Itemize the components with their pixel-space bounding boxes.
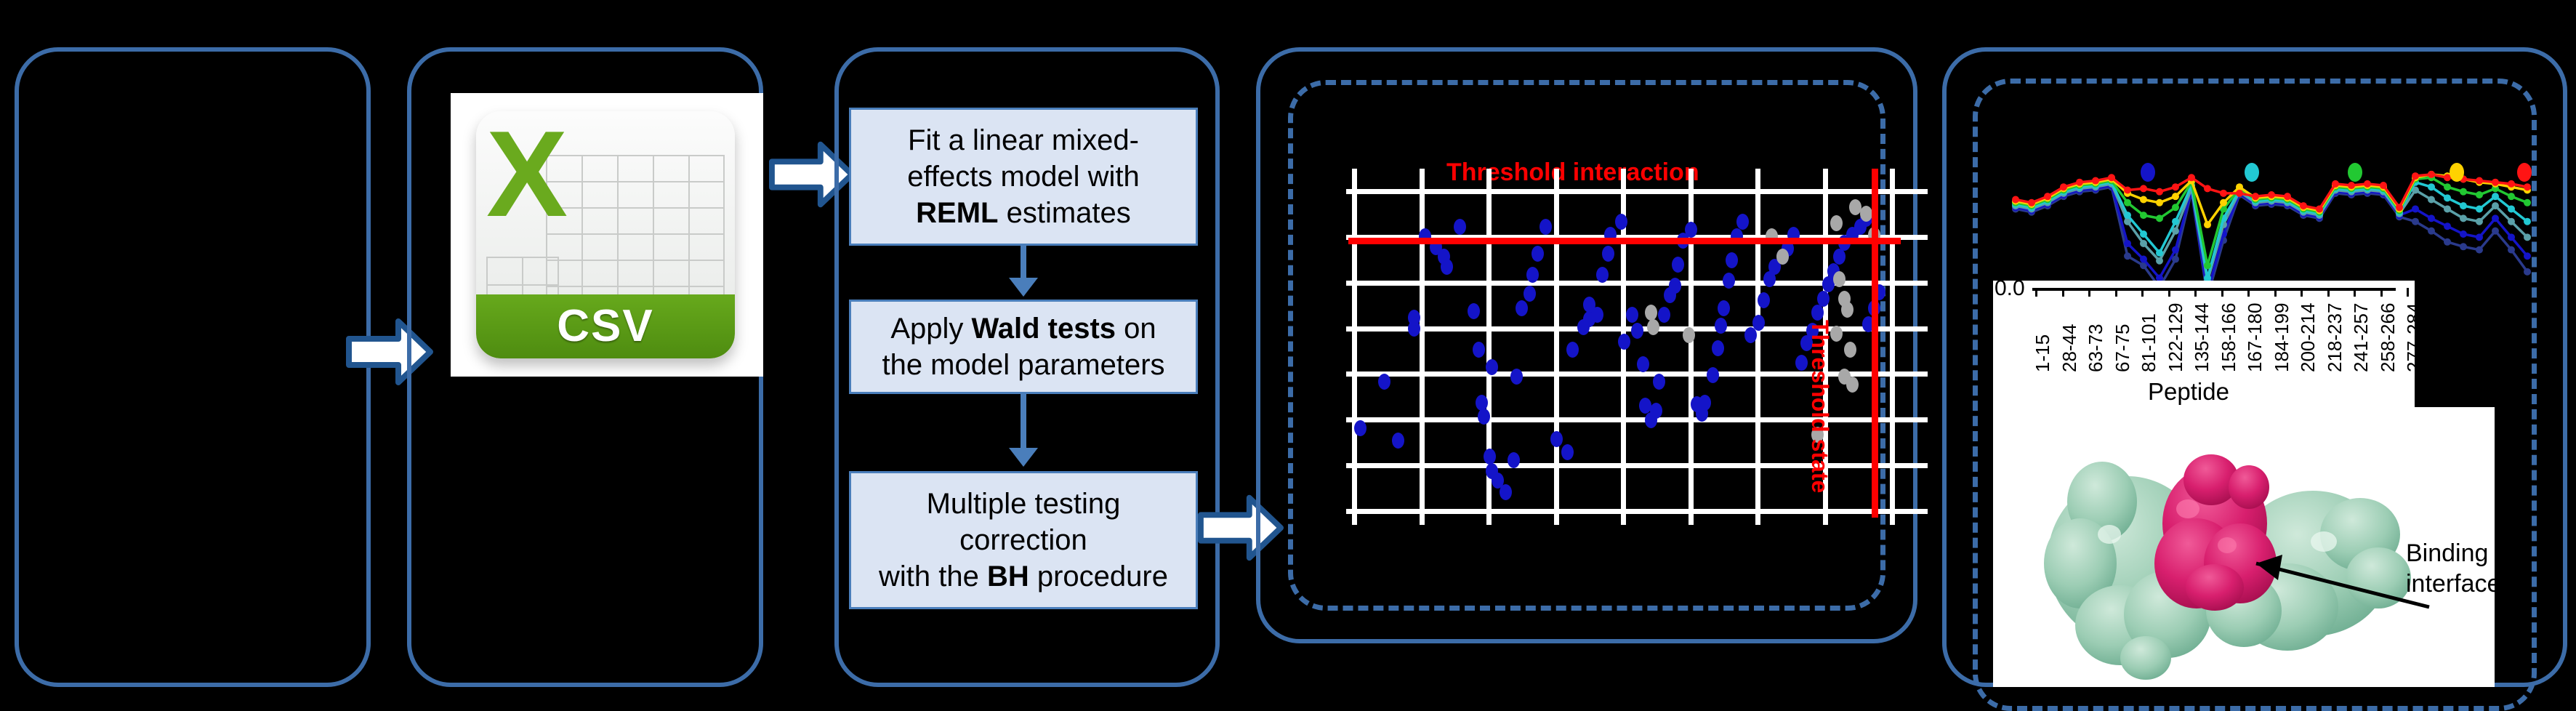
peptide-series-marker (2364, 180, 2371, 188)
scatter-point (1591, 307, 1603, 323)
scatter-point (1833, 249, 1846, 265)
excel-x-letter: X (483, 123, 571, 225)
peptide-series-marker (2236, 183, 2243, 190)
peptide-series-marker (2508, 246, 2515, 254)
legend-dot (2517, 163, 2532, 182)
peptide-series-marker (2460, 188, 2467, 196)
bh-line2: correction (959, 524, 1087, 556)
peptide-series-marker (2188, 174, 2195, 181)
peptide-series-marker (2524, 268, 2531, 276)
peptide-x-axis-tick (2380, 288, 2383, 297)
legend-dot (2141, 163, 2155, 182)
peptide-tick-label: 167-180 (2244, 303, 2266, 372)
scatter-point (1833, 271, 1846, 287)
scatter-point (1830, 215, 1843, 231)
bh-post3: procedure (1029, 561, 1168, 592)
peptide-series-marker (2124, 252, 2131, 260)
reml-line3-tail: estimates (999, 197, 1131, 229)
peptide-series-marker (2508, 193, 2515, 200)
peptide-series-marker (2412, 205, 2419, 212)
threshold-interaction-line (1348, 238, 1901, 244)
peptide-series-marker (2412, 172, 2419, 180)
scatter-point (1726, 252, 1738, 268)
peptide-series-marker (2476, 218, 2483, 225)
scatter-point (1524, 286, 1536, 302)
peptide-series-marker (2172, 204, 2179, 211)
peptide-tick-label: 218-237 (2324, 303, 2346, 372)
peptide-tick-label: 277-284 (2403, 303, 2426, 372)
csv-band-label: CSV (476, 294, 735, 358)
reml-line1: Fit a linear mixed- (908, 124, 1139, 156)
peptide-series-marker (2140, 240, 2147, 247)
peptide-tick-label: 81-101 (2138, 313, 2160, 372)
peptide-series-marker (2172, 246, 2179, 254)
peptide-series-marker (2044, 193, 2051, 200)
peptide-series-marker (2524, 183, 2531, 190)
scatter-point (1669, 278, 1681, 294)
peptide-series-marker (2220, 199, 2227, 206)
peptide-series-marker (2428, 228, 2435, 235)
peptide-series-marker (2492, 228, 2499, 235)
wald-post: on (1116, 313, 1156, 345)
peptide-x-axis-line (2032, 288, 2396, 291)
peptide-series-marker (2140, 256, 2147, 263)
scatter-point (1500, 484, 1512, 500)
threshold-state-line (1872, 169, 1878, 518)
peptide-series-marker (2476, 205, 2483, 212)
grid-line-vertical (1554, 169, 1559, 525)
peptide-tick-label: 184-199 (2271, 303, 2293, 372)
scatter-point (1516, 300, 1528, 316)
scatter-point (1408, 310, 1420, 326)
peptide-x-axis-tick (2301, 288, 2303, 297)
scatter-point (1510, 369, 1523, 385)
peptide-series-marker (2156, 257, 2163, 265)
peptide-series-marker (2492, 214, 2499, 222)
peptide-series-marker (2140, 212, 2147, 219)
scatter-point (1378, 374, 1390, 390)
peptide-series-marker (2492, 179, 2499, 186)
peptide-series-marker (2220, 190, 2227, 197)
peptide-x-axis-tick (2274, 288, 2277, 297)
peptide-tick-label: 258-266 (2377, 303, 2399, 372)
scatter-point (1683, 327, 1695, 343)
grid-line-horizontal (1346, 509, 1928, 514)
peptide-series-marker (2380, 182, 2387, 189)
peptide-series-marker (2444, 183, 2451, 190)
scatter-point (1441, 259, 1453, 275)
peptide-series-marker (2124, 240, 2131, 247)
scatter-point (1550, 431, 1563, 447)
grid-line-vertical (1755, 169, 1760, 525)
peptide-series-marker (2300, 202, 2307, 209)
peptide-x-axis-tick (2115, 288, 2117, 297)
scatter-point (1626, 307, 1638, 323)
wald-line2: the model parameters (882, 349, 1164, 381)
scatter-point (1539, 219, 1552, 235)
scatter-point (1647, 319, 1659, 335)
scatter-point (1712, 340, 1724, 356)
peptide-series-marker (2236, 190, 2243, 197)
connector-wald-bh (1021, 394, 1026, 449)
bh-emphasis: BH (987, 561, 1029, 592)
peptide-series-marker (2444, 194, 2451, 201)
binding-interface-label: Binding interface (2406, 538, 2500, 599)
scatter-point (1454, 219, 1466, 235)
scatter-point (1715, 318, 1727, 334)
scatter-point (1817, 291, 1830, 307)
reml-line2: effects model with (907, 161, 1139, 193)
scatter-point (1645, 305, 1657, 321)
peptide-tick-label: 1-15 (2032, 334, 2054, 372)
peptide-series-marker (2332, 180, 2339, 188)
peptide-series-marker (2172, 218, 2179, 225)
peptide-series-marker (2460, 243, 2467, 250)
peptide-series-marker (2172, 193, 2179, 200)
peptide-series-marker (2476, 191, 2483, 198)
bh-pre3: with the (879, 561, 987, 592)
scatter-point (1526, 267, 1539, 283)
peptide-series-marker (2060, 183, 2067, 190)
legend-dot (2450, 163, 2464, 182)
process-box-bh: Multiple testing correction with the BH … (849, 471, 1198, 609)
peptide-series-marker (2156, 199, 2163, 206)
peptide-series-marker (2204, 262, 2211, 269)
peptide-series-marker (2028, 199, 2035, 206)
scatter-point (1699, 395, 1711, 411)
bh-line1: Multiple testing (927, 488, 1121, 520)
peptide-series-marker (2524, 233, 2531, 241)
peptide-x-axis-tick (2327, 288, 2330, 297)
grid-line-horizontal (1346, 189, 1928, 194)
scatter-point (1508, 452, 1520, 468)
peptide-series-marker (2252, 193, 2259, 200)
threshold-interaction-label: Threshold interaction (1446, 158, 1699, 187)
peptide-x-axis-tick (2141, 288, 2144, 297)
peptide-tick-label: 67-75 (2112, 324, 2134, 373)
pipeline-figure: X CSV Fit a linear mixed- effects model … (0, 0, 2576, 687)
scatter-point (1860, 206, 1872, 222)
peptide-tick-label: 122-129 (2165, 303, 2187, 372)
scatter-point (1650, 403, 1662, 419)
peptide-tick-label: 63-73 (2085, 324, 2107, 373)
peptide-series-marker (2156, 214, 2163, 222)
peptide-series-marker (2348, 182, 2355, 189)
peptide-x-axis-tick (2062, 288, 2064, 297)
scatter-point (1637, 356, 1649, 372)
process-box-reml: Fit a linear mixed- effects model with R… (849, 108, 1198, 246)
peptide-series-marker (2076, 179, 2083, 186)
grid-line-horizontal (1346, 417, 1928, 422)
peptide-series-marker (2140, 196, 2147, 203)
peptide-series-marker (2476, 246, 2483, 254)
peptide-series-marker (2140, 230, 2147, 238)
peptide-series-marker (2460, 214, 2467, 222)
scatter-point (1653, 374, 1665, 390)
peptide-x-axis-tick (2407, 288, 2409, 297)
peptide-series-marker (2524, 199, 2531, 206)
peptide-series-marker (2444, 205, 2451, 212)
peptide-x-axis-tick (2354, 288, 2356, 297)
peptide-x-axis-tick (2221, 288, 2223, 297)
scatter-point (1596, 267, 1609, 283)
peptide-x-axis-label: Peptide (2148, 378, 2229, 406)
peptide-x-axis-tick (2035, 288, 2037, 297)
peptide-series-marker (2444, 238, 2451, 246)
scatter-point (1566, 342, 1579, 358)
wald-emphasis: Wald tests (972, 313, 1116, 345)
peptide-series-marker (2428, 171, 2435, 178)
grid-line-horizontal (1346, 463, 1928, 468)
scatter-point (1658, 307, 1670, 323)
legend-dot (2348, 163, 2362, 182)
scatter-point (1473, 342, 1485, 358)
peptide-series-marker (2012, 196, 2019, 203)
csv-band: CSV (476, 294, 735, 358)
connector-reml-wald-head (1009, 278, 1038, 297)
scatter-point (1723, 273, 1735, 289)
peptide-tick-label: 241-257 (2350, 303, 2372, 372)
peptide-series-marker (2156, 188, 2163, 196)
peptide-series-marker (2428, 196, 2435, 203)
peptide-series-marker (2124, 212, 2131, 219)
peptide-x-axis-tick (2088, 288, 2090, 297)
stage-1-panel (15, 47, 371, 687)
peptide-y-tick-zero: 0.0 (1995, 276, 2025, 301)
scatter-point (1744, 327, 1757, 343)
peptide-series-marker (2524, 252, 2531, 260)
csv-file-icon: X CSV (476, 111, 735, 358)
peptide-series-marker (2092, 177, 2099, 185)
peptide-series-marker (2172, 183, 2179, 190)
peptide-x-axis-tick (2194, 288, 2197, 297)
peptide-tick-label: 28-44 (2058, 324, 2081, 373)
peptide-series-marker (2396, 204, 2403, 211)
peptide-tick-label: 135-144 (2191, 303, 2213, 372)
scatter-point (1602, 246, 1614, 262)
peptide-series-marker (2284, 193, 2291, 200)
scatter-point (1392, 433, 1404, 449)
scatter-point (1841, 302, 1853, 318)
scatter-point (1476, 395, 1488, 411)
scatter-point (1484, 449, 1496, 465)
peptide-tick-label: 200-214 (2297, 303, 2319, 372)
scatter-point (1672, 257, 1684, 273)
threshold-state-label: Threshold state (1806, 320, 1833, 493)
peptide-series-marker (2108, 174, 2115, 181)
peptide-series-marker (2204, 185, 2211, 192)
peptide-series-marker (2476, 177, 2483, 185)
scatter-point (1707, 367, 1719, 383)
scatter-point (1615, 214, 1627, 230)
legend-dot (2245, 163, 2259, 182)
binding-interface-line2: interface (2406, 570, 2500, 598)
scatter-point (1776, 249, 1789, 265)
scatter-point (1561, 444, 1574, 460)
peptide-series-marker (2268, 191, 2275, 198)
peptide-x-axis-tick (2247, 288, 2250, 297)
process-box-wald: Apply Wald tests on the model parameters (849, 300, 1198, 394)
peptide-series-marker (2156, 249, 2163, 257)
grid-line-vertical (1352, 169, 1357, 525)
peptide-series-marker (2124, 187, 2131, 194)
scatter-point (1752, 315, 1765, 331)
connector-reml-wald (1021, 246, 1026, 281)
csv-icon-card: X CSV (451, 93, 763, 377)
peptide-series-marker (2204, 221, 2211, 228)
scatter-point (1531, 246, 1544, 262)
wald-pre: Apply (890, 313, 971, 345)
scatter-point (1618, 334, 1630, 350)
peptide-series-marker (2428, 214, 2435, 222)
scatter-point (1758, 292, 1770, 308)
peptide-series-marker (2508, 218, 2515, 225)
spreadsheet-grid-main (546, 155, 725, 313)
reml-emphasis: REML (916, 197, 998, 229)
peptide-series-marker (2316, 205, 2323, 212)
binding-interface-line1: Binding (2406, 539, 2488, 567)
peptide-series-marker (2124, 199, 2131, 206)
scatter-point (1631, 323, 1643, 339)
peptide-tick-label: 158-166 (2218, 303, 2240, 372)
connector-wald-bh-head (1009, 448, 1038, 467)
peptide-series-marker (2412, 218, 2419, 225)
peptide-series-marker (2476, 233, 2483, 241)
peptide-series-marker (2508, 180, 2515, 188)
grid-line-vertical (1420, 169, 1425, 525)
peptide-series-marker (2492, 202, 2499, 209)
peptide-series-marker (2444, 222, 2451, 230)
peptide-x-axis-tick (2168, 288, 2170, 297)
peptide-series-marker (2524, 218, 2531, 225)
scatter-point (1718, 300, 1730, 316)
peptide-series-marker (2460, 202, 2467, 209)
peptide-series-marker (2508, 205, 2515, 212)
scatter-point (1846, 377, 1859, 393)
scatter-point (1468, 303, 1480, 319)
peptide-series-marker (2140, 185, 2147, 192)
peptide-series-marker (2492, 193, 2499, 200)
peptide-series-marker (2428, 183, 2435, 190)
scatter-point (1354, 420, 1367, 436)
peptide-series-marker (2508, 233, 2515, 241)
peptide-series-marker (2460, 230, 2467, 238)
scatter-point (1844, 342, 1856, 358)
grid-line-vertical (1890, 169, 1895, 525)
scatter-point (1736, 214, 1749, 230)
